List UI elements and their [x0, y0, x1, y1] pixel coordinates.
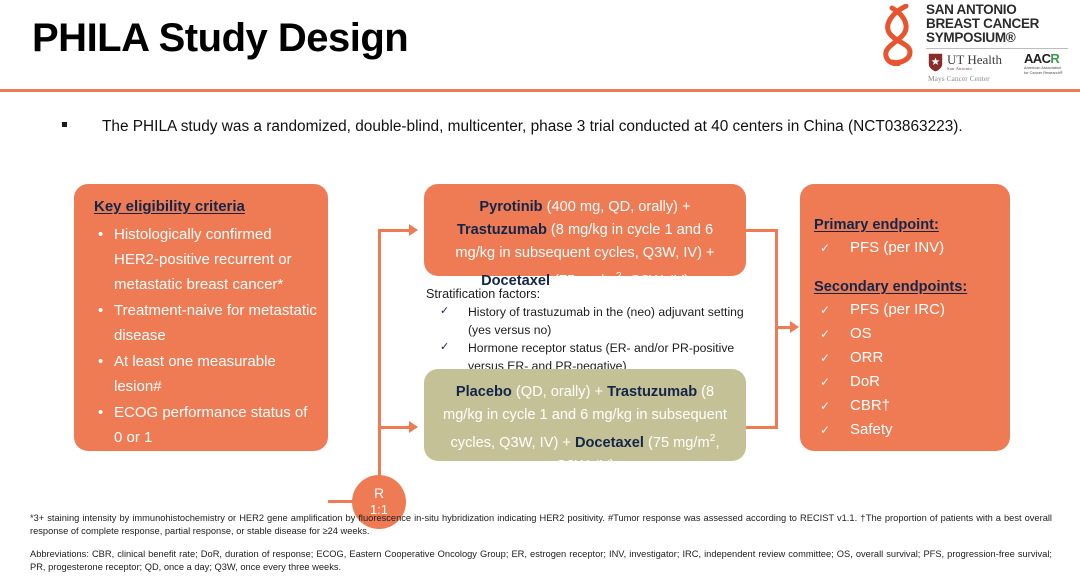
list-item: ✓ DoR [814, 370, 1004, 394]
sabcs-logo: SAN ANTONIO BREAST CANCER SYMPOSIUM® UT … [874, 2, 1072, 86]
list-item: ✓ Safety [814, 418, 1004, 442]
logo-divider [926, 48, 1068, 49]
connector-to-bottom-arm [378, 426, 411, 429]
connector-eligibility-to-randomization [328, 500, 354, 503]
connector-from-top-arm [746, 229, 778, 232]
secondary-endpoints-heading: Secondary endpoints: [814, 276, 1004, 298]
control-arm-box: Placebo (QD, orally) + Trastuzumab (8 mg… [424, 369, 746, 461]
list-item: ✓ ORR [814, 346, 1004, 370]
drug-name: Trastuzumab [607, 384, 697, 400]
square-bullet-icon [62, 122, 67, 127]
list-item-label: DoR [850, 373, 880, 390]
aacr-sub-line-2: for Cancer Research® [1024, 71, 1072, 76]
study-design-diagram: Key eligibility criteria • Histologicall… [0, 180, 1080, 480]
connector-merge-vertical [775, 229, 778, 429]
list-item-label: ECOG performance status of 0 or 1 [114, 404, 307, 446]
check-icon: ✓ [820, 394, 830, 418]
drug-dose: (400 mg, QD, orally) + [543, 199, 691, 215]
check-icon: ✓ [820, 236, 830, 260]
sabcs-line-1: SAN ANTONIO [926, 3, 1070, 17]
drug-name: Placebo [456, 384, 512, 400]
list-item: • Treatment-naive for metastatic disease [94, 298, 318, 348]
bullet-icon: • [98, 298, 103, 323]
control-arm-text: Placebo (QD, orally) + Trastuzumab (8 mg… [436, 381, 734, 478]
drug-dose: (QD, orally) + [512, 384, 603, 400]
arrowhead-endpoints [790, 321, 799, 333]
eligibility-criteria-box: Key eligibility criteria • Histologicall… [74, 184, 328, 451]
abbreviations-footnote: Abbreviations: CBR, clinical benefit rat… [30, 548, 1052, 574]
eligibility-title: Key eligibility criteria [94, 198, 245, 215]
drug-name: Trastuzumab [457, 222, 547, 238]
list-item-label: PFS (per INV) [850, 239, 944, 256]
list-item-label: OS [850, 325, 872, 342]
list-item-label: Adequate organ function [114, 455, 277, 472]
check-icon: ✓ [820, 298, 830, 322]
list-item: • At least one measurable lesion# [94, 349, 318, 399]
stratification-title: Stratification factors: [426, 286, 746, 303]
connector-split-vertical [378, 229, 381, 476]
aacr-aac: AAC [1024, 51, 1050, 66]
bullet-icon: • [98, 222, 103, 247]
list-item: • Adequate organ function [94, 451, 318, 476]
footnotes: *3+ staining intensity by immunohistoche… [30, 512, 1052, 574]
list-item-label: History of trastuzumab in the (neo) adju… [468, 305, 744, 337]
check-icon: ✓ [440, 339, 449, 355]
intro-text: The PHILA study was a randomized, double… [102, 114, 982, 139]
bullet-icon: • [98, 451, 103, 476]
list-item-label: At least one measurable lesion# [114, 353, 276, 395]
endpoints-box: Primary endpoint: ✓ PFS (per INV) Second… [800, 184, 1010, 451]
check-icon: ✓ [820, 346, 830, 370]
list-item: • Histologically confirmed HER2-positive… [94, 222, 318, 297]
list-item-label: Safety [850, 421, 893, 438]
list-item: ✓ OS [814, 322, 1004, 346]
slide-header: PHILA Study Design SAN ANTONIO BREAST CA… [0, 0, 1080, 90]
symbol-footnote: *3+ staining intensity by immunohistoche… [30, 512, 1052, 538]
list-item-label: Histologically confirmed HER2-positive r… [114, 226, 292, 293]
drug-name: Pyrotinib [479, 199, 542, 215]
eligibility-list: • Histologically confirmed HER2-positive… [94, 222, 318, 477]
check-icon: ✓ [440, 303, 449, 319]
list-item-label: PFS (per IRC) [850, 301, 945, 318]
mays-cancer-center-label: Mays Cancer Center [928, 74, 990, 83]
page-title: PHILA Study Design [32, 16, 408, 61]
aacr-r: R [1050, 51, 1059, 66]
check-icon: ✓ [820, 418, 830, 442]
spacer [814, 260, 1004, 276]
aacr-wordmark: AACR [1024, 52, 1072, 65]
experimental-arm-box: Pyrotinib (400 mg, QD, orally) + Trastuz… [424, 184, 746, 276]
list-item: ✓ History of trastuzumab in the (neo) ad… [426, 303, 746, 339]
primary-endpoint-heading: Primary endpoint: [814, 214, 1004, 236]
sabcs-line-3: SYMPOSIUM® [926, 31, 1070, 45]
list-item: • ECOG performance status of 0 or 1 [94, 400, 318, 450]
check-icon: ✓ [820, 370, 830, 394]
list-item: ✓ PFS (per IRC) [814, 298, 1004, 322]
sabcs-wordmark: SAN ANTONIO BREAST CANCER SYMPOSIUM® [926, 3, 1070, 46]
header-divider [0, 89, 1080, 92]
aacr-sublabel: American Association for Cancer Research… [1024, 66, 1072, 76]
endpoints-content: Primary endpoint: ✓ PFS (per INV) Second… [814, 214, 1004, 442]
ut-health-sublabel: San Antonio [947, 66, 972, 71]
bullet-icon: • [98, 400, 103, 425]
sabcs-line-2: BREAST CANCER [926, 17, 1070, 31]
aacr-logo: AACR American Association for Cancer Res… [1024, 52, 1072, 76]
shield-icon [928, 53, 943, 72]
stratification-factors: Stratification factors: ✓ History of tra… [426, 286, 746, 375]
experimental-arm-text: Pyrotinib (400 mg, QD, orally) + Trastuz… [436, 196, 734, 293]
list-item-label: Treatment-naive for metastatic disease [114, 302, 317, 344]
list-item-label: CBR† [850, 397, 890, 414]
bullet-icon: • [98, 349, 103, 374]
connector-to-top-arm [378, 229, 411, 232]
arrowhead-bottom-arm [409, 421, 418, 433]
ribbon-icon [876, 4, 920, 66]
drug-name: Docetaxel [575, 435, 644, 451]
list-item-label: ORR [850, 349, 883, 366]
connector-from-bottom-arm [746, 426, 778, 429]
list-item: ✓ CBR† [814, 394, 1004, 418]
arrowhead-top-arm [409, 224, 418, 236]
randomization-letter: R [352, 485, 406, 502]
check-icon: ✓ [820, 322, 830, 346]
list-item: ✓ PFS (per INV) [814, 236, 1004, 260]
